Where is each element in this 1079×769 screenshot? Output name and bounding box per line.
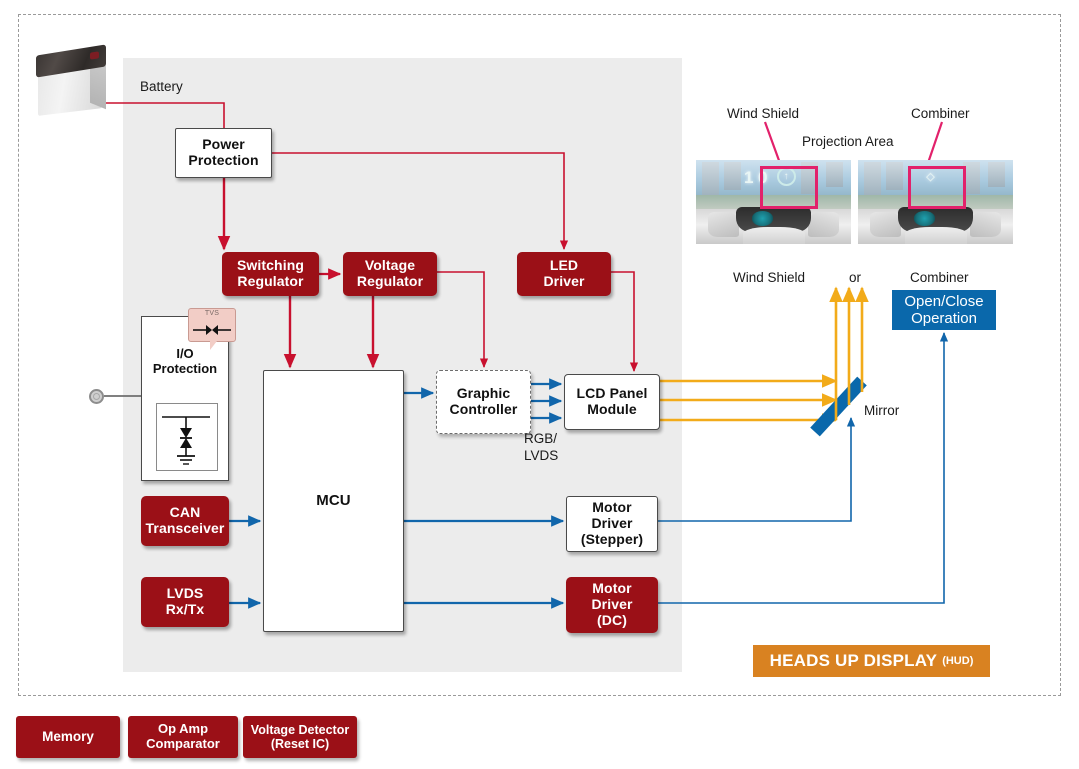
- battery-image: [28, 36, 120, 120]
- tvs-callout-tail: [210, 341, 217, 350]
- block-motor-driver-dc[interactable]: Motor Driver (DC): [566, 577, 658, 633]
- block-led-driver[interactable]: LED Driver: [517, 252, 611, 296]
- block-open-close-operation[interactable]: Open/Close Operation: [892, 290, 996, 330]
- block-power-protection[interactable]: Power Protection: [175, 128, 272, 178]
- highlight-box-windshield: [760, 166, 818, 209]
- io-connector-port[interactable]: [89, 389, 104, 404]
- io-protection-label: I/O Protection: [142, 347, 228, 377]
- heads-up-display-badge: HEADS UP DISPLAY (HUD): [753, 645, 990, 677]
- legend-item-voltage-detector[interactable]: Voltage Detector (Reset IC): [243, 716, 357, 758]
- rgb-lvds-label: RGB/ LVDS: [524, 431, 558, 465]
- label-combiner-top: Combiner: [911, 106, 970, 121]
- hud-badge-sub-label: (HUD): [942, 655, 973, 667]
- hud-badge-main-label: HEADS UP DISPLAY: [770, 651, 938, 671]
- tvs-callout-bubble: TVS: [188, 308, 236, 342]
- battery-terminal: [90, 51, 99, 59]
- block-lcd-panel-module[interactable]: LCD Panel Module: [564, 374, 660, 430]
- block-mcu[interactable]: MCU: [263, 370, 404, 632]
- tvs-diode-icon: [189, 320, 235, 340]
- label-projection-area: Projection Area: [802, 134, 894, 149]
- tvs-schematic-symbol: [156, 403, 218, 471]
- legend-item-memory[interactable]: Memory: [16, 716, 120, 758]
- block-switching-regulator[interactable]: Switching Regulator: [222, 252, 319, 296]
- block-motor-driver-stepper[interactable]: Motor Driver (Stepper): [566, 496, 658, 552]
- hud-block-diagram: Battery Power Protection Switching Regul…: [0, 0, 1079, 769]
- label-windshield-top: Wind Shield: [727, 106, 799, 121]
- battery-label: Battery: [140, 79, 183, 94]
- label-windshield-bottom: Wind Shield: [733, 270, 805, 285]
- label-or: or: [849, 270, 861, 285]
- tvs-callout-label: TVS: [189, 310, 235, 317]
- block-graphic-controller[interactable]: Graphic Controller: [436, 370, 531, 434]
- block-can-transceiver[interactable]: CAN Transceiver: [141, 496, 229, 546]
- block-voltage-regulator[interactable]: Voltage Regulator: [343, 252, 437, 296]
- label-mirror: Mirror: [864, 403, 899, 418]
- label-combiner-bottom: Combiner: [910, 270, 969, 285]
- highlight-box-combiner: [908, 166, 966, 209]
- legend-item-op-amp-comparator[interactable]: Op Amp Comparator: [128, 716, 238, 758]
- block-lvds-rx-tx[interactable]: LVDS Rx/Tx: [141, 577, 229, 627]
